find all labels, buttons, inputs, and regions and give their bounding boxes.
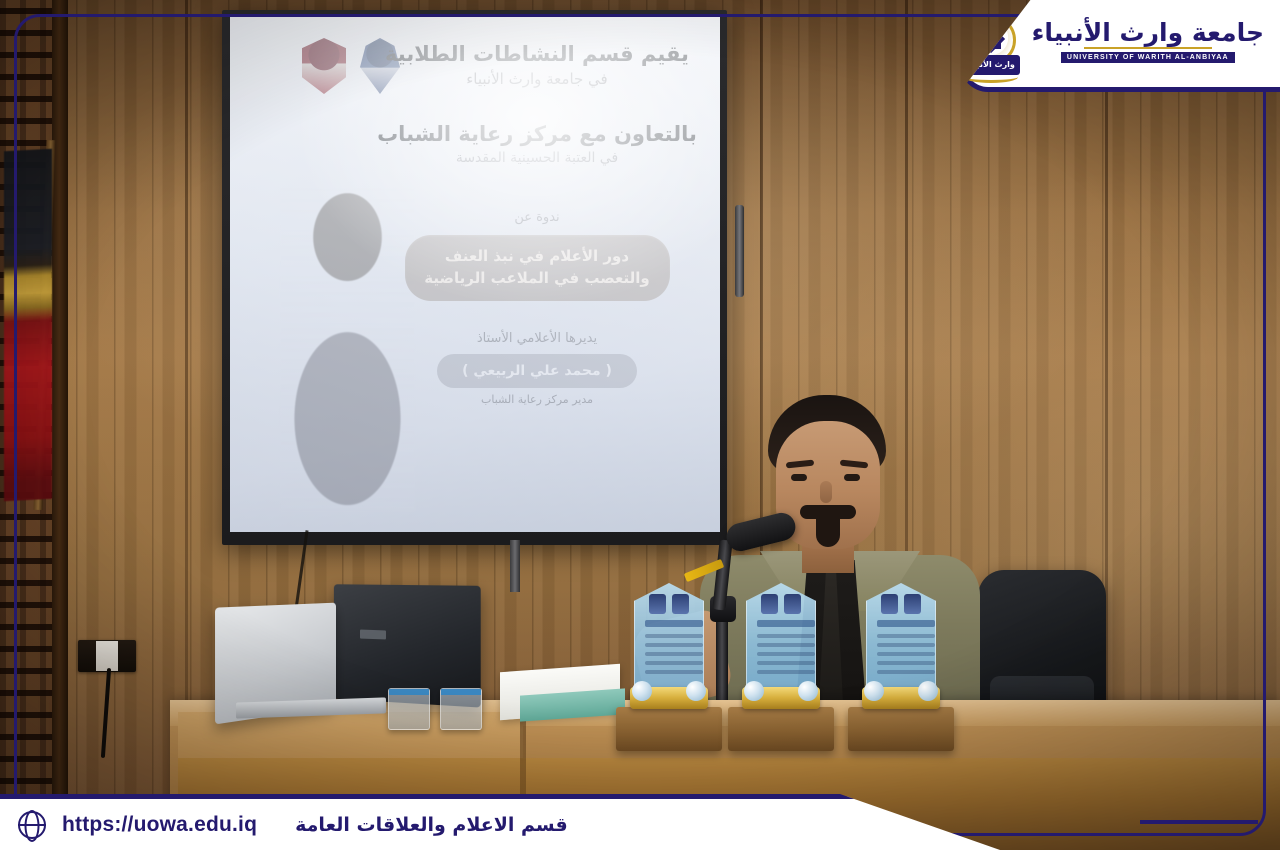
slide-moderator-role: مدير مركز رعاية الشباب xyxy=(372,393,702,406)
water-glass-1 xyxy=(388,688,430,730)
plaque-wooden-base xyxy=(848,707,954,751)
plaque-crystal-ball xyxy=(918,681,938,701)
slide-line-5: ندوة عن xyxy=(372,210,702,225)
slide-line-3: بالتعاون مع مركز رعاية الشباب xyxy=(372,122,702,146)
plaque-badge-icon xyxy=(904,594,921,614)
plaque-badges xyxy=(881,594,921,614)
lattice-edge xyxy=(52,0,68,850)
ceremonial-flag xyxy=(4,149,52,502)
plaque-badge-icon xyxy=(784,594,801,614)
plaque-wooden-base xyxy=(616,707,722,751)
plaque-badge-icon xyxy=(672,594,689,614)
plaque-badge-icon xyxy=(649,594,666,614)
plaque-badge-icon xyxy=(761,594,778,614)
water-glass-2 xyxy=(440,688,482,730)
plaque-crystal-ball xyxy=(864,681,884,701)
plaque-badges xyxy=(649,594,689,614)
plaque-glass xyxy=(634,583,704,695)
website-url[interactable]: https://uowa.edu.iq xyxy=(62,813,257,837)
slide-text-block: يقيم قسم النشاطات الطلابية في جامعة وارث… xyxy=(372,42,702,406)
laptop-brand-logo xyxy=(360,630,386,640)
globe-icon xyxy=(18,811,46,839)
plaque-text-lines xyxy=(877,634,935,679)
plaque-glass xyxy=(746,583,816,695)
wordmark-english: UNIVERSITY OF WARITH AL-ANBIYAA xyxy=(1061,52,1235,63)
plaque-badges xyxy=(761,594,801,614)
slide-line-4: في العتبة الحسينية المقدسة xyxy=(372,150,702,166)
slide-logo-maroon-icon xyxy=(302,38,346,94)
plaque-badge-icon xyxy=(881,594,898,614)
wordmark-gold-rule xyxy=(1084,47,1212,49)
plaque-text-lines xyxy=(645,634,703,679)
plaque-crystal-ball xyxy=(798,681,818,701)
wordmark-arabic: جامعة وارث الأنبياء xyxy=(1032,20,1264,45)
department-name: قسم الاعلام والعلاقات العامة xyxy=(295,814,568,836)
projector-screen-stand xyxy=(510,540,520,592)
plaque-glass xyxy=(866,583,936,695)
award-plaque-2 xyxy=(742,583,820,733)
award-plaque-3 xyxy=(862,583,940,733)
slide-moderator-name: ( محمد علي الربيعي ) xyxy=(437,354,637,388)
slide-line-2: في جامعة وارث الأنبياء xyxy=(372,70,702,88)
speaker-mustache xyxy=(800,505,856,519)
event-photograph: يقيم قسم النشاطات الطلابية في جامعة وارث… xyxy=(0,0,1280,850)
slide-line-1: يقيم قسم النشاطات الطلابية xyxy=(372,42,702,66)
speaker-eye-left xyxy=(791,474,807,481)
event-photo-card: يقيم قسم النشاطات الطلابية في جامعة وارث… xyxy=(0,0,1280,850)
university-wordmark: جامعة وارث الأنبياء UNIVERSITY OF WARITH… xyxy=(1032,20,1264,63)
plaque-crystal-ball xyxy=(686,681,706,701)
seminar-speaker xyxy=(690,395,990,725)
brand-footer-bar: https://uowa.edu.iq قسم الاعلام والعلاقا… xyxy=(0,794,1000,850)
projector-screen: يقيم قسم النشاطات الطلابية في جامعة وارث… xyxy=(230,16,720,532)
slide-seminar-title: دور الأعلام في نبذ العنف والتعصب في المل… xyxy=(405,235,670,301)
footer-accent-rule xyxy=(1140,820,1258,824)
speaker-nose xyxy=(820,481,832,503)
plaque-text-lines xyxy=(757,634,815,679)
plaque-heading-bar xyxy=(645,620,703,627)
plaque-crystal-ball xyxy=(632,681,652,701)
speaker-eye-right xyxy=(844,474,860,481)
plaque-heading-bar xyxy=(757,620,815,627)
slide-moderator-intro: يديرها الأعلامي الأستاذ xyxy=(372,331,702,346)
speaker-goatee xyxy=(816,519,840,547)
wall-mounted-rod xyxy=(735,205,744,297)
outlet-plate xyxy=(96,641,118,671)
plaque-wooden-base xyxy=(728,707,834,751)
plaque-crystal-ball xyxy=(744,681,764,701)
award-plaque-1 xyxy=(630,583,708,733)
plaque-heading-bar xyxy=(877,620,935,627)
microphone-stem xyxy=(716,616,728,712)
